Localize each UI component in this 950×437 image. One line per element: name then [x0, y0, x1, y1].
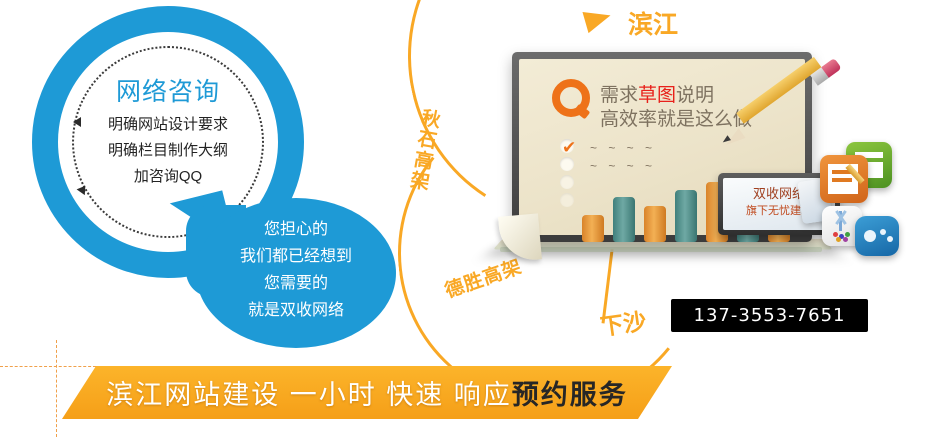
banner-light-text: 滨江网站建设 一小时 快速 响应 — [106, 373, 512, 412]
monitor-headline: 需求草图说明 — [600, 80, 714, 107]
checkbox-1[interactable] — [560, 157, 574, 171]
guide-line-vertical — [56, 340, 57, 437]
headline-suffix: 说明 — [676, 85, 714, 106]
monitor-base-edge — [500, 247, 822, 252]
checkbox-2[interactable] — [560, 175, 574, 189]
ring-item-2: 加咨询QQ — [62, 164, 274, 190]
chart-bar-0 — [582, 215, 604, 242]
ring-title: 网络咨询 — [70, 72, 266, 108]
app-icon-notepad-orange[interactable] — [820, 155, 868, 203]
bubble-line-3: 就是双收网络 — [200, 297, 392, 324]
ring-item-1: 明确栏目制作大纲 — [62, 138, 274, 164]
monitor-subheadline: 高效率就是这么做 — [600, 104, 752, 131]
bubble-line-0: 您担心的 — [200, 216, 392, 243]
phone-number: 137-3553-7651 — [694, 305, 846, 326]
bubble-text-list: 您担心的 我们都已经想到 您需要的 就是双收网络 — [200, 216, 392, 324]
banner-text: 滨江网站建设 一小时 快速 响应 预约服务 — [62, 366, 672, 419]
squiggle-line-1: ~ ~ ~ ~ — [590, 159, 656, 173]
squiggle-line-0: ~ ~ ~ ~ — [590, 141, 656, 155]
chart-bar-2 — [644, 206, 666, 242]
poster-canvas: 网络咨询 明确网站设计要求 明确栏目制作大纲 加咨询QQ 您担心的 我们都已经想… — [0, 0, 950, 437]
check-mark-icon: ✔ — [562, 139, 576, 156]
bubble-line-2: 您需要的 — [200, 270, 392, 297]
banner-dark-text: 预约服务 — [512, 373, 628, 412]
ring-item-0: 明确网站设计要求 — [62, 112, 274, 138]
chart-bar-3 — [675, 190, 697, 242]
bubble-line-1: 我们都已经想到 — [200, 243, 392, 270]
headline-prefix: 需求 — [600, 85, 638, 106]
headline-highlight: 草图 — [638, 85, 676, 106]
ring-item-list: 明确网站设计要求 明确栏目制作大纲 加咨询QQ — [62, 112, 274, 190]
map-label-xiasha: 下沙 — [598, 302, 648, 342]
phone-number-box[interactable]: 137-3553-7651 — [671, 299, 868, 332]
chart-bar-1 — [613, 197, 635, 242]
app-icon-gamepad-blue[interactable] — [855, 216, 899, 256]
checkbox-3[interactable] — [560, 193, 574, 207]
map-label-binjiang: 滨江 — [628, 5, 678, 41]
